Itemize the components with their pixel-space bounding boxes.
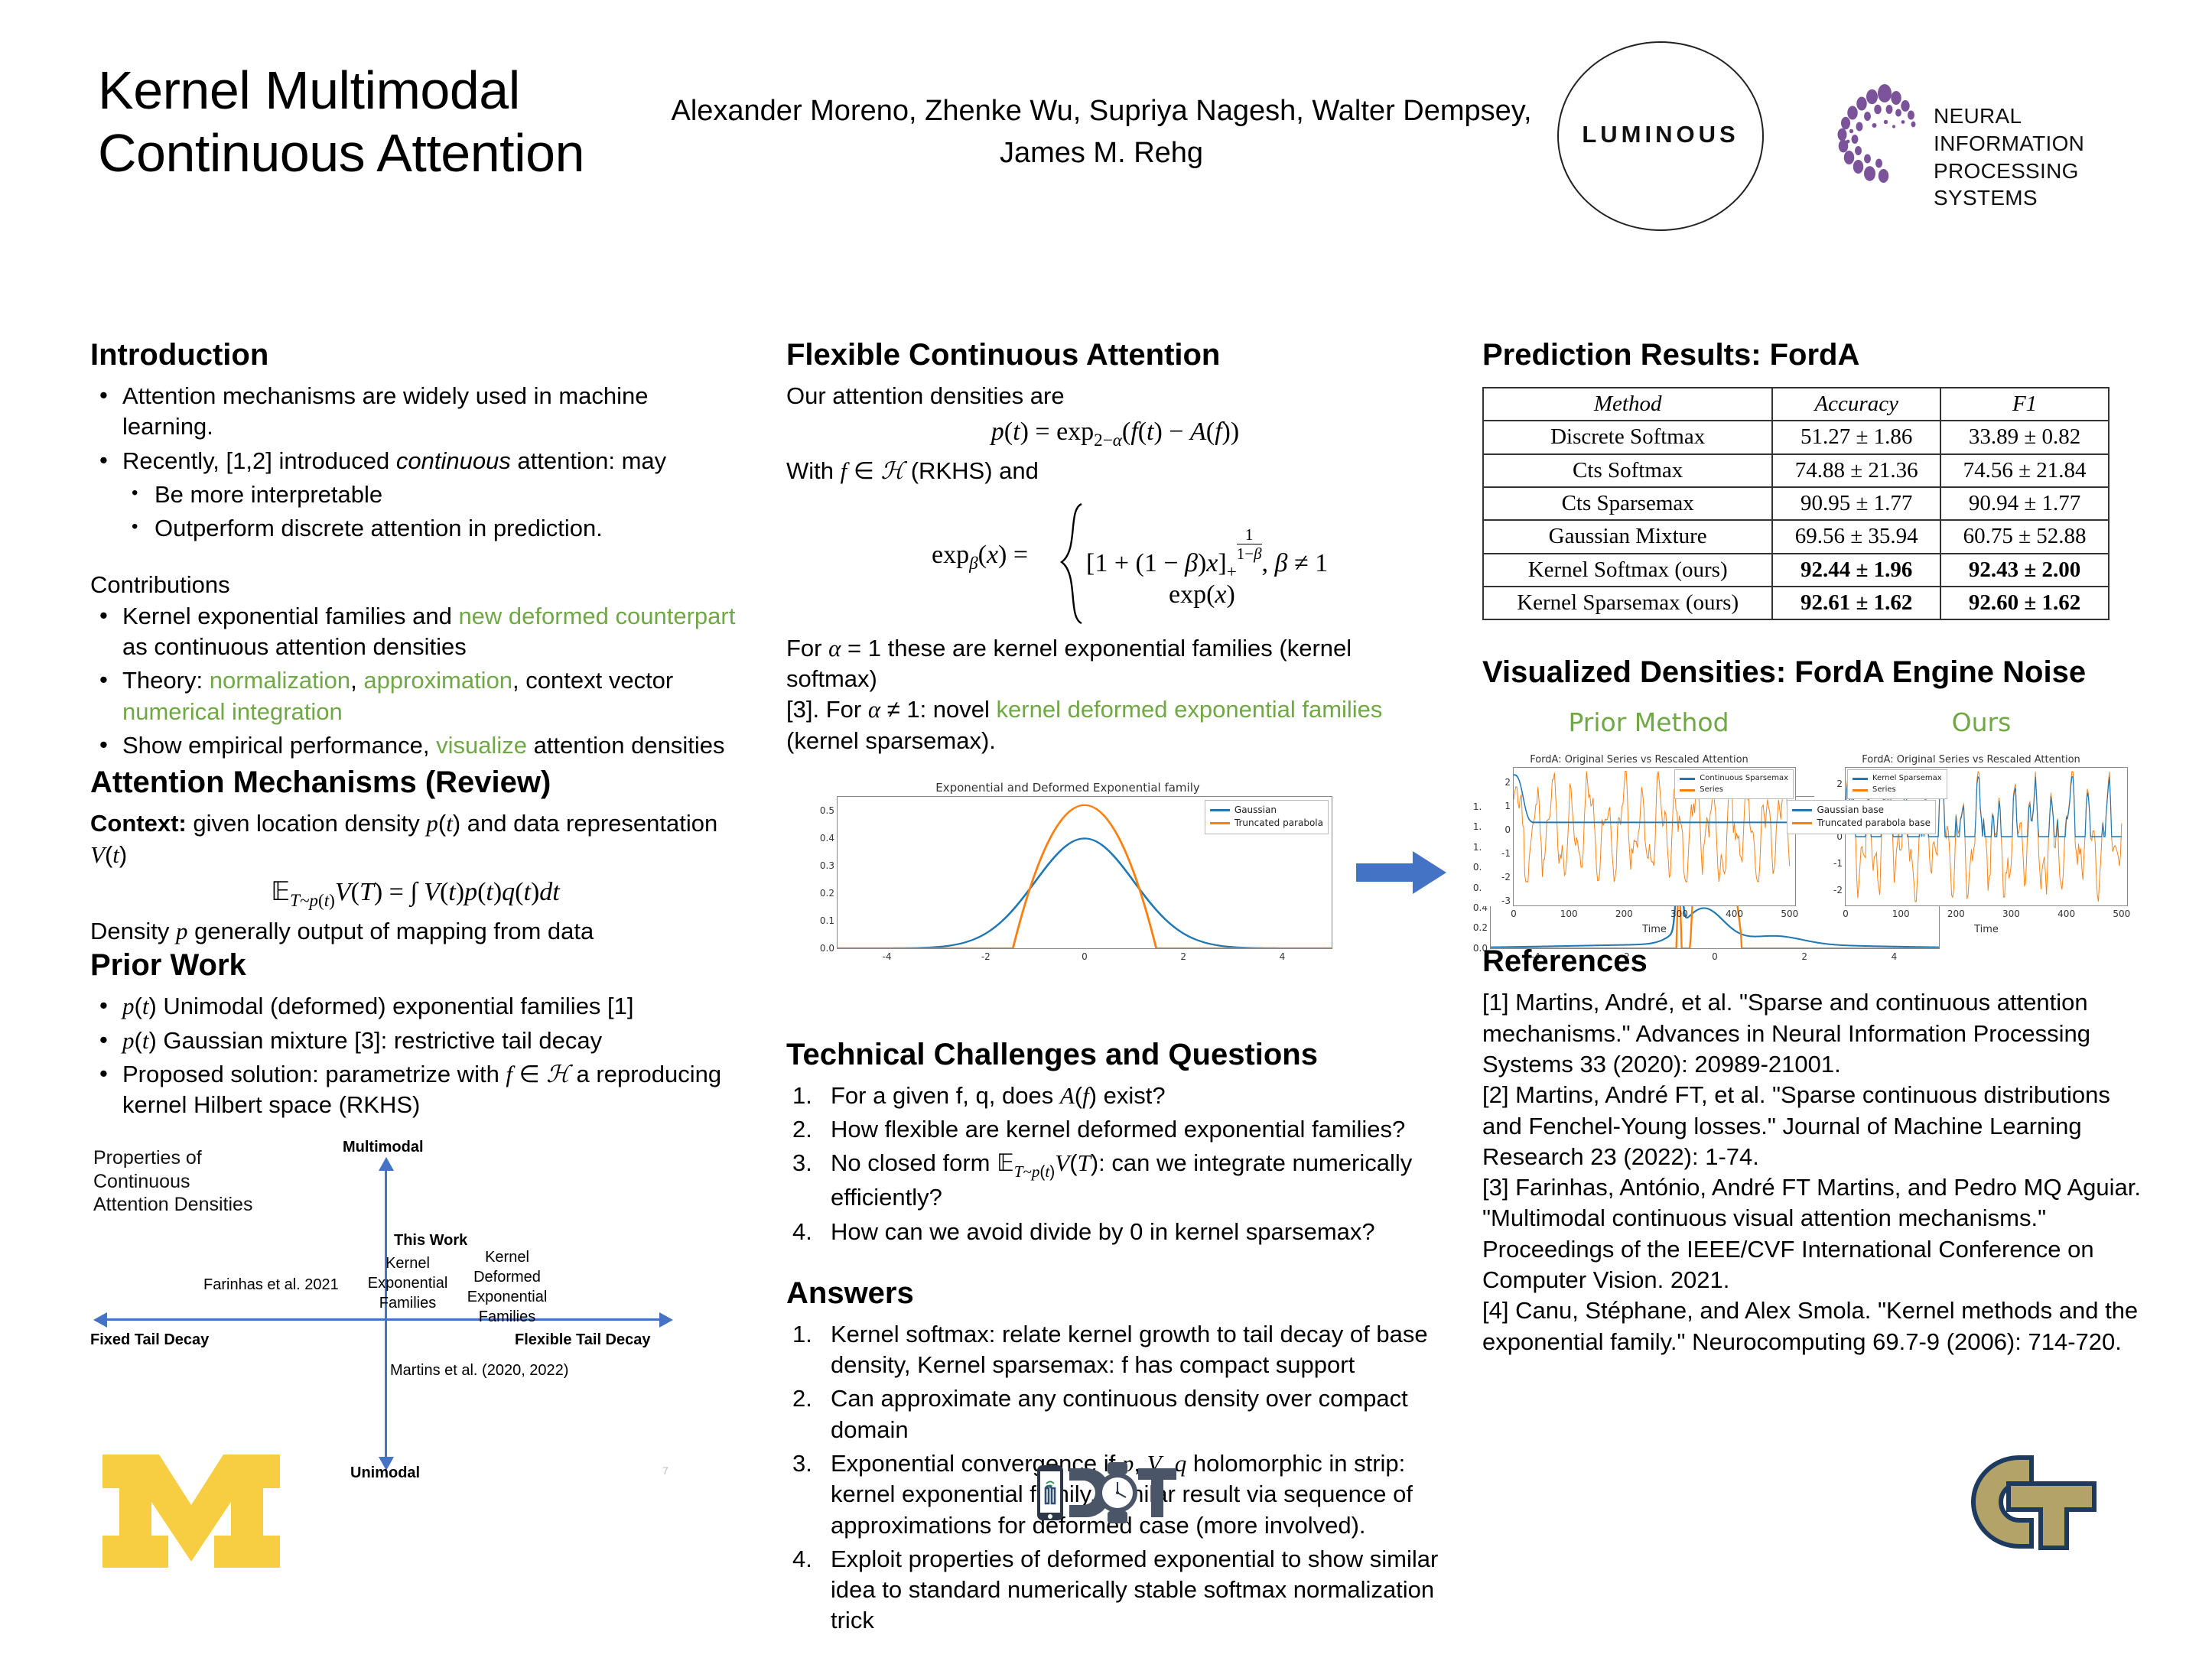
brace-icon [1056, 502, 1086, 625]
x-tick-label: 200 [1615, 909, 1633, 919]
poster-header: Kernel Multimodal Continuous Attention A… [0, 0, 2212, 245]
legend-label: Series [1872, 785, 1896, 796]
cell-method: Gaussian Mixture [1483, 520, 1772, 553]
legend-label: Gaussian base [1817, 804, 1883, 817]
x-tick-label: -2 [981, 951, 991, 962]
x-tick-label: 400 [2057, 909, 2075, 919]
georgia-tech-logo [1949, 1445, 2140, 1575]
section-heading-introduction: Introduction [90, 336, 740, 373]
column-header-method: Method [1483, 388, 1772, 421]
results-table: Method Accuracy F1 Discrete Softmax51.27… [1482, 387, 2110, 620]
contributions-bullets: Kernel exponential families and new defo… [90, 601, 740, 761]
chart-title: FordA: Original Series vs Rescaled Atten… [1814, 754, 2128, 765]
legend-swatch [1210, 822, 1230, 824]
x-tick-label: 100 [1560, 909, 1578, 919]
x-tick-label: 300 [2002, 909, 2020, 919]
list-item: Recently, [1,2] introduced continuous at… [90, 446, 740, 476]
list-item: Kernel softmax: relate kernel growth to … [786, 1319, 1444, 1381]
section-heading-technical-challenges: Technical Challenges and Questions [786, 1036, 1444, 1073]
section-heading-visualized-densities: Visualized Densities: FordA Engine Noise [1482, 654, 2148, 691]
highlight-approximation: approximation [363, 667, 512, 694]
legend-swatch [1680, 778, 1695, 780]
vertical-axis [385, 1169, 387, 1460]
chart-forda-prior: FordA: Original Series vs Rescaled Atten… [1482, 754, 1796, 906]
legend-entry: Continuous Sparsemax [1680, 773, 1788, 785]
column-header-f1: F1 [1940, 388, 2109, 421]
x-tick-label: 100 [1892, 909, 1910, 919]
x-axis-label: Time [1642, 924, 1667, 935]
item-text: Kernel softmax: relate kernel growth to … [831, 1321, 1428, 1378]
michigan-logo [99, 1450, 283, 1572]
flexible-lead: Our attention densities are [786, 381, 1444, 411]
column-left: Introduction Attention mechanisms are wi… [90, 336, 740, 1484]
reference-item: [4] Canu, Stéphane, and Alex Smola. "Ker… [1482, 1295, 2148, 1357]
arrow-right-icon [1356, 851, 1446, 894]
legend-swatch [1210, 809, 1230, 811]
cell-method: Cts Softmax [1483, 454, 1772, 487]
arrow-right-icon [659, 1312, 673, 1328]
y-tick-label: -2 [1833, 885, 1843, 896]
table-row: Kernel Sparsemax (ours)92.61 ± 1.6292.60… [1483, 587, 2109, 619]
introduction-bullets: Attention mechanisms are widely used in … [90, 381, 740, 544]
section-heading-answers: Answers [786, 1275, 1444, 1312]
exp-beta-case-1: [1 + (1 − β)x]+11−β, β ≠ 1 [1086, 525, 1328, 583]
with-rkhs-line: With f ∈ ℋ (RKHS) and [786, 456, 1444, 486]
y-tick-label: -2 [1501, 872, 1511, 883]
list-item: How flexible are kernel deformed exponen… [786, 1114, 1444, 1145]
list-item: Kernel exponential families and new defo… [90, 601, 740, 663]
quadrant-ref-martins: Martins et al. (2020, 2022) [390, 1362, 568, 1380]
cell-method: Kernel Sparsemax (ours) [1483, 587, 1772, 619]
quadrant-item-kernel-deformed-exponential-families: Kernel Deformed Exponential Families [450, 1247, 564, 1327]
y-tick-label: 0 [1504, 824, 1511, 835]
x-tick-label: 200 [1947, 909, 1965, 919]
cell-accuracy: 69.56 ± 35.94 [1772, 520, 1940, 553]
cell-accuracy: 74.88 ± 21.36 [1772, 454, 1940, 487]
visualized-headers: Prior Method Ours [1482, 707, 2148, 737]
table-row: Kernel Softmax (ours)92.44 ± 1.9692.43 ±… [1483, 554, 2109, 587]
highlight-normalization: normalization [210, 667, 350, 694]
highlight-new-deformed-counterpart: new deformed counterpart [458, 603, 735, 629]
cell-method: Cts Sparsemax [1483, 487, 1772, 520]
table-row: Discrete Softmax51.27 ± 1.8633.89 ± 0.82 [1483, 421, 2109, 453]
author-list: Alexander Moreno, Zhenke Wu, Supriya Nag… [658, 90, 1545, 174]
x-tick-label: 0 [1843, 909, 1849, 919]
cell-f1: 74.56 ± 21.84 [1940, 454, 2109, 487]
quadrant-title-line-3: Attention Densities [93, 1193, 252, 1217]
chart-title: FordA: Original Series vs Rescaled Atten… [1482, 754, 1796, 765]
list-item: p(t) Gaussian mixture [3]: restrictive t… [90, 1026, 740, 1056]
bullet-text: Outperform discrete attention in predict… [155, 515, 603, 541]
y-tick-label: 1 [1504, 801, 1511, 811]
cell-f1: 90.94 ± 1.77 [1940, 487, 2109, 520]
reference-item: [3] Farinhas, António, André FT Martins,… [1482, 1172, 2148, 1295]
chart-legend: Continuous Sparsemax Series [1674, 769, 1794, 799]
x-tick-label: 300 [1670, 909, 1688, 919]
x-tick-label: 4 [1280, 951, 1286, 962]
neurips-line-2: PROCESSING SYSTEMS [1934, 158, 2142, 213]
legend-swatch [1853, 778, 1868, 780]
table-row: Cts Sparsemax90.95 ± 1.7790.94 ± 1.77 [1483, 487, 2109, 520]
x-axis-label: Time [1974, 924, 1999, 935]
cell-f1: 33.89 ± 0.82 [1940, 421, 2109, 453]
y-tick-label: 0.1 [820, 915, 834, 926]
y-tick-label: -1 [1501, 848, 1511, 859]
legend-swatch [1792, 822, 1812, 824]
cell-accuracy: 92.61 ± 1.62 [1772, 587, 1940, 619]
alpha-not-one-text: [3]. For α ≠ 1: novel kernel deformed ex… [786, 694, 1444, 756]
arrow-up-icon [379, 1157, 394, 1171]
chart-legend: Gaussian base Truncated parabola base [1787, 800, 1936, 834]
neurips-logo: NEURAL INFORMATION PROCESSING SYSTEMS [1820, 84, 2142, 184]
mdot-logo [1034, 1455, 1179, 1546]
exp-beta-equation: expβ(x) = [1 + (1 − β)x]+11−β, β ≠ 1 exp… [786, 492, 1444, 633]
x-tick-label: 2 [1180, 951, 1186, 962]
luminous-label: LUMINOUS [1557, 121, 1764, 148]
poster-root: Kernel Multimodal Continuous Attention A… [0, 0, 2212, 1661]
context-label: Context: [90, 810, 187, 837]
section-heading-attention-mechanisms: Attention Mechanisms (Review) [90, 764, 740, 801]
legend-swatch [1680, 789, 1695, 791]
x-tick-label: 500 [2113, 909, 2130, 919]
y-tick-label: 0.3 [820, 860, 834, 871]
cell-accuracy: 51.27 ± 1.86 [1772, 421, 1940, 453]
technical-items: For a given f, q, does A(f) exist? How f… [786, 1081, 1444, 1247]
list-item: Proposed solution: parametrize with f ∈ … [90, 1059, 740, 1121]
x-tick-label: 500 [1781, 909, 1798, 919]
emph-continuous: continuous [396, 447, 511, 474]
x-tick-label: 0 [1082, 951, 1088, 962]
cell-f1: 92.60 ± 1.62 [1940, 587, 2109, 619]
cell-accuracy: 90.95 ± 1.77 [1772, 487, 1940, 520]
cell-f1: 60.75 ± 52.88 [1940, 520, 2109, 553]
arrow-left-icon [93, 1312, 107, 1328]
section-heading-references: References [1482, 943, 2148, 980]
bullet-text: Be more interpretable [155, 481, 382, 508]
list-item: For a given f, q, does A(f) exist? [786, 1081, 1444, 1111]
reference-item: [1] Martins, André, et al. "Sparse and c… [1482, 987, 2148, 1080]
prior-work-bullets: p(t) Unimodal (deformed) exponential fam… [90, 991, 740, 1120]
table-header-row: Method Accuracy F1 [1483, 388, 2109, 421]
y-tick-label: 0.0 [820, 943, 834, 954]
spacer [90, 547, 740, 570]
column-right: Prediction Results: FordA Method Accurac… [1482, 336, 2148, 1357]
legend-entry: Gaussian [1210, 804, 1323, 817]
legend-swatch [1853, 789, 1868, 791]
y-tick-label: -3 [1501, 896, 1511, 906]
legend-entry: Kernel Sparsemax [1853, 773, 1942, 785]
list-item: Attention mechanisms are widely used in … [90, 381, 740, 443]
item-text: How can we avoid divide by 0 in kernel s… [831, 1218, 1375, 1245]
highlight-numerical-integration: numerical integration [122, 698, 343, 725]
list-item: Theory: normalization, approximation, co… [90, 665, 740, 727]
quadrant-item-kernel-exponential-families: Kernel Exponential Families [358, 1253, 457, 1313]
legend-label: Series [1700, 785, 1723, 796]
legend-entry: Truncated parabola [1210, 817, 1323, 830]
title-line-1: Kernel Multimodal [98, 60, 649, 122]
contributions-label: Contributions [90, 570, 740, 600]
x-tick-label: -4 [883, 951, 892, 962]
x-tick-label: 400 [1726, 909, 1743, 919]
chart-plot-area: Continuous Sparsemax Series -3-2-1012 01… [1513, 767, 1796, 906]
expectation-equation: 𝔼T~p(t)V(T) = ∫ V(t)p(t)q(t)dt [90, 876, 740, 912]
column-header-accuracy: Accuracy [1772, 388, 1940, 421]
highlight-visualize: visualize [436, 732, 527, 759]
neurips-line-1: NEURAL INFORMATION [1934, 102, 2142, 158]
legend-swatch [1792, 809, 1812, 811]
table-row: Gaussian Mixture69.56 ± 35.9460.75 ± 52.… [1483, 520, 2109, 553]
exp-beta-case-2: exp(x) [1169, 580, 1235, 609]
y-tick-label: 2 [1504, 777, 1511, 788]
chart-exponential-deformed: Exponential and Deformed Exponential fam… [800, 781, 1335, 949]
legend-label: Truncated parabola [1234, 817, 1323, 830]
legend-label: Truncated parabola base [1817, 817, 1931, 830]
list-item: Outperform discrete attention in predict… [90, 513, 740, 544]
chart-plot-area: Kernel Sparsemax Series -2-1012 01002003… [1845, 767, 2128, 906]
quadrant-axis-right: Flexible Tail Decay [515, 1331, 651, 1349]
y-tick-label: -1 [1833, 858, 1843, 869]
chart-legend: Kernel Sparsemax Series [1847, 769, 1947, 799]
cell-method: Discrete Softmax [1483, 421, 1772, 453]
alpha-one-text: For α = 1 these are kernel exponential f… [786, 633, 1444, 695]
quadrant-title: Properties of Continuous Attention Densi… [93, 1146, 252, 1217]
luminous-logo: LUMINOUS [1557, 41, 1764, 231]
legend-entry: Truncated parabola base [1792, 817, 1931, 830]
y-tick-label: 2 [1836, 778, 1843, 789]
section-heading-prior-work: Prior Work [90, 947, 740, 983]
chart-legend: Gaussian Truncated parabola [1205, 800, 1329, 834]
exp-beta-lhs: expβ(x) = [932, 541, 1028, 574]
quadrant-axis-left: Fixed Tail Decay [90, 1331, 209, 1349]
y-tick-label: 0.4 [820, 833, 834, 844]
quadrant-title-line-1: Properties of [93, 1146, 252, 1170]
neurips-wordmark: NEURAL INFORMATION PROCESSING SYSTEMS [1934, 102, 2142, 212]
item-text: Can approximate any continuous density o… [831, 1385, 1408, 1442]
cell-method: Kernel Softmax (ours) [1483, 554, 1772, 587]
chart-plot-area: Gaussian Truncated parabola 0.00.10.20.3… [837, 796, 1332, 949]
bullet-text: Attention mechanisms are widely used in … [122, 382, 649, 440]
legend-entry: Series [1680, 785, 1788, 796]
list-item: Can approximate any continuous density o… [786, 1383, 1444, 1445]
section-heading-flexible-continuous-attention: Flexible Continuous Attention [786, 336, 1444, 373]
page-title: Kernel Multimodal Continuous Attention [98, 60, 649, 185]
poster-footer [0, 1438, 2212, 1661]
legend-label: Continuous Sparsemax [1700, 773, 1788, 785]
y-tick-label: 0.2 [820, 888, 834, 899]
viz-head-prior-method: Prior Method [1482, 707, 1815, 737]
x-tick-label: 0 [1511, 909, 1517, 919]
quadrant-diagram: Properties of Continuous Attention Densi… [90, 1140, 695, 1484]
list-item: How can we avoid divide by 0 in kernel s… [786, 1217, 1444, 1247]
cell-accuracy: 92.44 ± 1.96 [1772, 554, 1940, 587]
reference-item: [2] Martins, André FT, et al. "Sparse co… [1482, 1080, 2148, 1172]
context-line: Context: given location density p(t) and… [90, 808, 740, 870]
quadrant-title-line-2: Continuous [93, 1170, 252, 1194]
legend-label: Gaussian [1234, 804, 1277, 817]
viz-head-ours: Ours [1815, 707, 2148, 737]
list-item: No closed form 𝔼T~p(t)V(T): can we integ… [786, 1148, 1444, 1213]
list-item: Be more interpretable [90, 479, 740, 510]
density-note: Density p generally output of mapping fr… [90, 916, 740, 947]
table-row: Cts Softmax74.88 ± 21.3674.56 ± 21.84 [1483, 454, 2109, 487]
list-item: p(t) Unimodal (deformed) exponential fam… [90, 991, 740, 1022]
cell-f1: 92.43 ± 2.00 [1940, 554, 2109, 587]
highlight-kernel-deformed-exponential-families: kernel deformed exponential families [997, 696, 1383, 723]
legend-label: Kernel Sparsemax [1872, 773, 1942, 785]
section-heading-prediction-results: Prediction Results: FordA [1482, 336, 2148, 373]
list-item: Show empirical performance, visualize at… [90, 730, 740, 761]
density-equation: p(t) = exp2−α(f(t) − A(f)) [786, 418, 1444, 451]
quadrant-ref-farinhas: Farinhas et al. 2021 [203, 1276, 339, 1294]
legend-entry: Gaussian base [1792, 804, 1931, 817]
neurips-swirl-icon [1820, 75, 1935, 190]
item-text: How flexible are kernel deformed exponen… [831, 1116, 1405, 1143]
title-line-2: Continuous Attention [98, 122, 649, 185]
chart-title: Exponential and Deformed Exponential fam… [800, 781, 1335, 795]
legend-entry: Series [1853, 785, 1942, 796]
quadrant-axis-top: Multimodal [343, 1139, 424, 1156]
y-tick-label: 0.5 [820, 805, 834, 816]
density-comparison-figure: Exponential and Deformed Exponential fam… [786, 776, 1444, 1006]
